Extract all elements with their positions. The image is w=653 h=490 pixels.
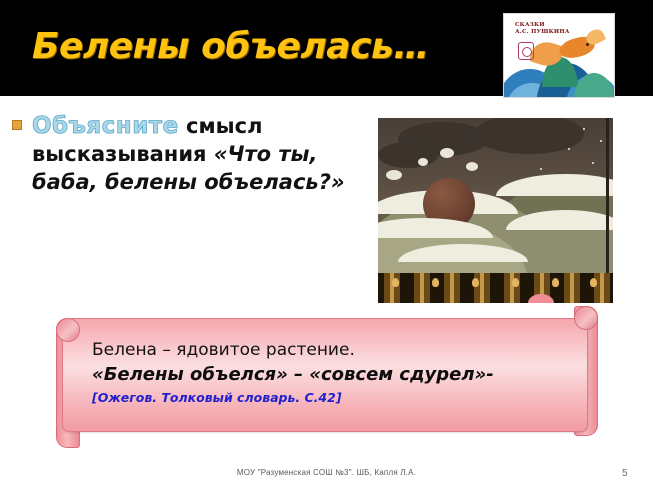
scroll-curl-cap-right bbox=[574, 306, 598, 330]
sea-illustration-image bbox=[378, 118, 613, 303]
body-line2-quote: «Что ты, bbox=[214, 142, 318, 166]
book-cover-title-line1: СКАЗКИ bbox=[515, 22, 585, 29]
book-cover-title-line2: А.С. ПУШКИНА bbox=[515, 29, 585, 36]
scroll-idiom-line: «Белены объелся» – «совсем сдурел»- bbox=[92, 362, 562, 388]
illustration-ornament-border bbox=[378, 273, 613, 303]
slide-canvas: Белены объелась… СКАЗКИ А.С. ПУШКИНА Объ… bbox=[0, 0, 653, 490]
wordart-objyasnite: Объясните bbox=[32, 113, 179, 139]
book-cover-title: СКАЗКИ А.С. ПУШКИНА bbox=[515, 22, 585, 36]
scroll-definition-line: Белена – ядовитое растение. bbox=[92, 338, 562, 362]
pink-scroll-banner: Белена – ядовитое растение. «Белены объе… bbox=[56, 306, 596, 451]
body-paragraph: Объясните смысл высказывания «Что ты, ба… bbox=[10, 112, 375, 196]
scroll-text-block: Белена – ядовитое растение. «Белены объе… bbox=[92, 338, 562, 408]
bullet-text-block: Объясните смысл высказывания «Что ты, ба… bbox=[10, 112, 375, 196]
illustration-post bbox=[606, 118, 609, 278]
book-cover-image: СКАЗКИ А.С. ПУШКИНА bbox=[503, 13, 615, 98]
publisher-seal-icon bbox=[518, 42, 534, 60]
square-bullet-icon bbox=[12, 120, 22, 130]
footer-credit: МОУ "Разуменская СОШ №3". ШБ, Капля Л.А. bbox=[0, 468, 653, 477]
scroll-curl-cap-left bbox=[56, 318, 80, 342]
body-line1-rest: смысл bbox=[179, 114, 263, 138]
page-number: 5 bbox=[622, 468, 628, 479]
slide-title: Белены объелась… bbox=[32, 26, 429, 67]
body-line3-quote: баба, белены объелась?» bbox=[32, 170, 345, 194]
goldfish-eye-icon bbox=[586, 43, 589, 46]
body-line2-plain: высказывания bbox=[32, 142, 214, 166]
scroll-source-citation: [Ожегов. Толковый словарь. С.42] bbox=[92, 388, 562, 408]
